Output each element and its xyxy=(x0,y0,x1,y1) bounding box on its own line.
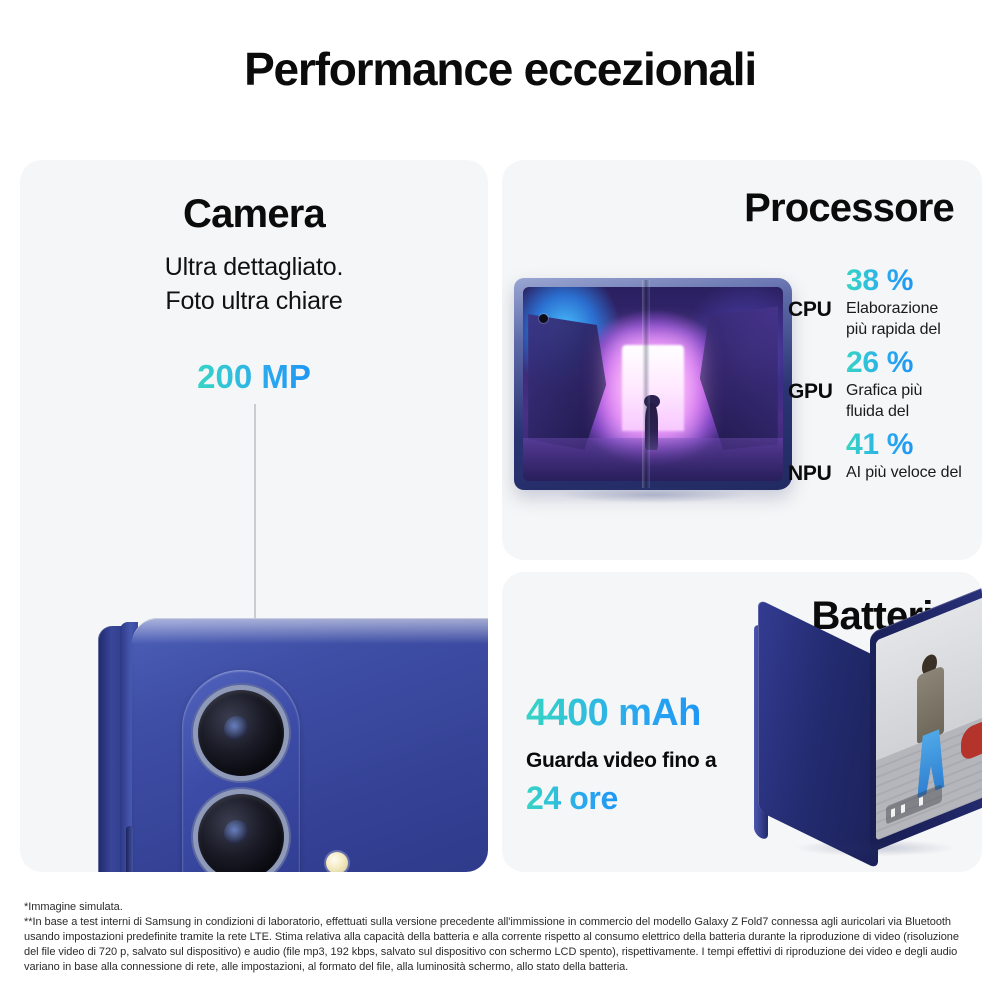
battery-capacity-text: 4400 mAh xyxy=(526,692,701,735)
stat-label: CPU xyxy=(788,298,831,322)
stat-value-text: 26 % xyxy=(846,346,913,380)
battery-subtitle: Guarda video fino a xyxy=(526,749,716,773)
game-scene-rock-left xyxy=(528,314,606,450)
stat-value: 26 % xyxy=(846,346,978,380)
processor-card: Processore CPU 38 % xyxy=(502,160,982,560)
stat-row: GPU 26 % Grafica più fluida del xyxy=(788,346,978,422)
tablet-screen xyxy=(523,287,783,481)
foldable-phone-tent-mode-image xyxy=(750,610,982,860)
foldable-phone-rear-image xyxy=(90,612,488,872)
tent-drop-shadow xyxy=(760,836,982,860)
stat-label: GPU xyxy=(788,380,833,404)
footnote-line-2: **In base a test interni di Samsung in c… xyxy=(24,915,976,975)
stat-description-line-2: fluida del xyxy=(846,401,978,422)
infographic-root: Performance eccezionali Camera Ultra det… xyxy=(0,0,1000,1000)
battery-card: Batteria 4400 mAh Guarda video fino a 24… xyxy=(502,572,982,872)
stat-description-line-1: Grafica più xyxy=(846,380,978,401)
stat-description: Elaborazione più rapida del xyxy=(846,298,978,340)
tent-left-panel xyxy=(758,599,878,870)
battery-hours: 24 ore xyxy=(526,780,618,817)
camera-subtitle: Ultra dettagliato. Foto ultra chiare xyxy=(20,250,488,318)
battery-capacity: 4400 mAh xyxy=(526,692,701,735)
game-scene-rock-right xyxy=(700,306,778,450)
stat-description-line-2: più rapida del xyxy=(846,319,978,340)
stat-row: CPU 38 % Elaborazione più rapida del xyxy=(788,264,978,340)
camera-subtitle-line-2: Foto ultra chiare xyxy=(20,284,488,318)
stat-description-line-1: AI più veloce del xyxy=(846,462,978,483)
tablet-front-camera-icon xyxy=(539,314,548,323)
stat-row: NPU 41 % AI più veloce del xyxy=(788,428,978,483)
processor-stats-list: CPU 38 % Elaborazione più rapida del GPU… xyxy=(788,264,978,489)
processor-heading: Processore xyxy=(744,186,954,231)
footnote-line-1: *Immagine simulata. xyxy=(24,900,976,915)
callout-leader-line xyxy=(254,404,256,630)
camera-lens-wide-icon xyxy=(198,690,284,776)
video-person-coat xyxy=(917,665,944,744)
footnotes: *Immagine simulata. **In base a test int… xyxy=(24,900,976,975)
stat-description-line-1: Elaborazione xyxy=(846,298,978,319)
camera-flash-icon xyxy=(326,852,348,872)
phone-side-button xyxy=(126,826,133,872)
stat-value-text: 41 % xyxy=(846,428,913,462)
stat-value: 41 % xyxy=(846,428,978,462)
stat-value: 38 % xyxy=(846,264,978,298)
stat-label: NPU xyxy=(788,462,831,486)
stat-description: Grafica più fluida del xyxy=(846,380,978,422)
tablet-hinge-crease xyxy=(642,280,650,488)
tablet-drop-shadow xyxy=(520,484,786,506)
foldable-tablet-gaming-image xyxy=(514,278,792,490)
page-title: Performance eccezionali xyxy=(0,42,1000,96)
battery-hours-text: 24 ore xyxy=(526,780,618,817)
camera-megapixel-text: 200 MP xyxy=(197,358,311,396)
stat-value-text: 38 % xyxy=(846,264,913,298)
stat-description: AI più veloce del xyxy=(846,462,978,483)
camera-megapixel-value: 200 MP xyxy=(20,358,488,396)
camera-heading: Camera xyxy=(20,192,488,237)
phone-top-highlight xyxy=(132,618,488,644)
camera-lens-main-icon xyxy=(198,794,284,872)
camera-subtitle-line-1: Ultra dettagliato. xyxy=(20,250,488,284)
camera-card: Camera Ultra dettagliato. Foto ultra chi… xyxy=(20,160,488,872)
